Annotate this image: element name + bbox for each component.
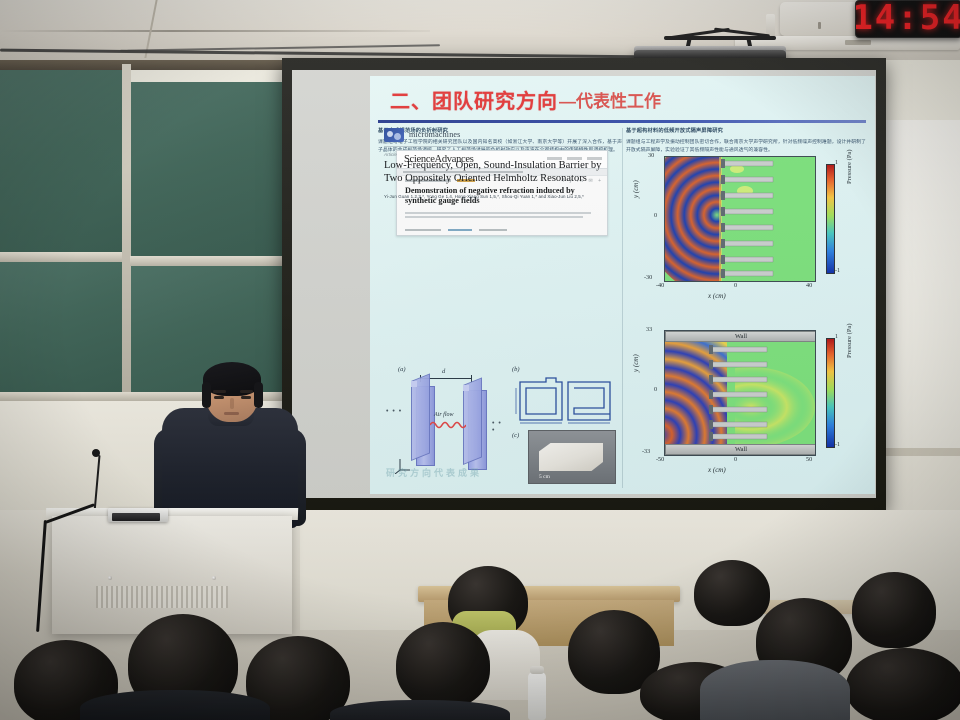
- audience-shoulders: [700, 660, 850, 720]
- presenter-brow: [213, 390, 226, 393]
- figure-panel-b: (b): [512, 368, 618, 428]
- sample-specimen: [539, 443, 603, 471]
- micromachines-article-title: Low-Frequency, Open, Sound-Insulation Ba…: [384, 159, 610, 185]
- resonator-schematic: [512, 376, 616, 426]
- colorbar-tick-min: -1: [835, 442, 840, 448]
- colorbar-tick-max: 1: [835, 334, 838, 340]
- presenter-nose: [230, 398, 234, 409]
- colorbar-label: Pressure (Pa): [846, 150, 853, 184]
- presenter-hair: [254, 382, 263, 408]
- x-tick-max: 40: [806, 282, 812, 289]
- audience-head: [694, 560, 770, 626]
- audience-shoulders: [80, 690, 270, 720]
- dimension-label: d: [442, 368, 445, 375]
- pressure-field-heatmap: [665, 157, 815, 281]
- x-tick-mid: 0: [734, 456, 737, 463]
- y-tick-max: 30: [648, 152, 654, 159]
- chart-sound-insulation-barrier: y (cm) 33 0 -33 -50 0 50 x (cm): [630, 324, 866, 484]
- wall-speaker-unit: [780, 2, 866, 36]
- presenter-eye: [241, 396, 251, 399]
- slide-left-column: 基于合成规范场的负折射研究 课题组与电子工程学院的相关研究团队以及国内知名高校（…: [378, 128, 622, 490]
- column-divider: [622, 128, 623, 488]
- water-bottle-cap: [530, 666, 544, 674]
- presenter-eye: [214, 396, 224, 399]
- figure-panel-a: (a) d Air flow • • • • • •: [388, 368, 508, 478]
- slide-watermark: 研究方向代表成果: [386, 466, 482, 479]
- podium-screw: [212, 576, 216, 580]
- title-underline: [378, 120, 866, 123]
- y-tick-min: -30: [644, 274, 652, 281]
- y-tick-mid: 0: [654, 386, 657, 393]
- micromachines-masthead: micromachines: [409, 130, 460, 139]
- micromachines-logo-icon: [384, 128, 404, 142]
- right-section-heading: 基于超构材料的低频开放式隔声屏障研究: [626, 128, 866, 136]
- micromachines-authors: Yi-Jun Guan 1,2,3,*, Yong Ge 1,4, Hong-X…: [384, 194, 610, 199]
- slide-right-column: 基于超构材料的低频开放式隔声屏障研究 课题组与工程声学及振动控制团队密切合作，联…: [626, 128, 866, 490]
- sound-wave-icon: [430, 420, 466, 430]
- colorbar: [826, 164, 835, 274]
- x-tick-min: -40: [656, 282, 664, 289]
- water-bottle: [528, 672, 546, 720]
- slide-title: 二、团队研究方向 —代表性工作: [390, 84, 860, 114]
- presentation-slide: 二、团队研究方向 —代表性工作 基于合成规范场的负折射研究 课题组与电子工程学院…: [370, 76, 875, 494]
- presenter-hair: [202, 382, 211, 408]
- presenter-brow: [240, 390, 253, 393]
- whiteboard-rail: [880, 448, 960, 456]
- podium-screw: [108, 576, 112, 580]
- audience-head: [846, 648, 960, 720]
- wall-annotation-top: Wall: [665, 331, 816, 342]
- audience-head: [396, 622, 490, 708]
- ellipsis-dots: • • •: [492, 420, 508, 434]
- slide-title-sub: —代表性工作: [559, 87, 661, 112]
- colorbar-tick-min: -1: [835, 268, 840, 274]
- wall-annotation-bottom: Wall: [665, 444, 816, 455]
- chalkboard-rail: [0, 252, 122, 262]
- presenter-mouth: [224, 412, 239, 415]
- y-tick-mid: 0: [654, 212, 657, 219]
- colorbar: [826, 338, 835, 448]
- chalkboard-panel: [130, 82, 300, 256]
- x-tick-mid: 0: [734, 282, 737, 289]
- clock-time: 14:54: [856, 0, 960, 37]
- whiteboard-panel: [880, 120, 960, 450]
- scale-bar-label: 5 cm: [539, 474, 550, 480]
- wall-clock: 14:54: [855, 0, 960, 38]
- x-axis-label: x (cm): [708, 292, 726, 300]
- laptop-screen[interactable]: [112, 513, 160, 521]
- panel-label-a: (a): [398, 366, 406, 373]
- pressure-field-heatmap: [665, 331, 815, 455]
- x-tick-min: -50: [656, 456, 664, 463]
- article-footer-links: [405, 229, 507, 232]
- panel-label-c: (c): [512, 432, 519, 439]
- audience-head: [852, 572, 936, 648]
- slide-title-main: 二、团队研究方向: [390, 85, 558, 114]
- figure-panel-c: (c) 5 cm: [528, 430, 614, 482]
- divider: [384, 146, 610, 147]
- resonator-bar-3d: [468, 390, 487, 470]
- y-tick-min: -33: [642, 448, 650, 455]
- plot-area: Wall Wall: [664, 330, 816, 456]
- chalkboard-panel: [0, 70, 122, 252]
- x-tick-max: 50: [806, 456, 812, 463]
- plot-area: [664, 156, 816, 282]
- y-axis-label: y (cm): [632, 354, 640, 372]
- y-axis-label: y (cm): [632, 180, 640, 198]
- chalkboard-frame: [122, 64, 131, 394]
- colorbar-tick-max: 1: [835, 160, 838, 166]
- ellipsis-dots: • • •: [386, 408, 402, 415]
- sample-photograph: 5 cm: [528, 430, 616, 484]
- chalkboard-panel: [0, 262, 122, 392]
- chart-negative-refraction: y (cm) 30 0 -30 -40 0 40 x (cm): [630, 150, 866, 310]
- audience-shoulders: [330, 700, 510, 720]
- ceiling-seam: [0, 30, 430, 32]
- y-tick-max: 33: [646, 326, 652, 333]
- lecture-hall-screenshot: 14:54 二、团队研究方向 —代表性工作 基于合成规范场的负折射研究 课题组与…: [0, 0, 960, 720]
- panel-label-b: (b): [512, 366, 520, 373]
- colorbar-label: Pressure (Pa): [846, 324, 853, 358]
- podium-vent: [96, 586, 228, 608]
- x-axis-label: x (cm): [708, 466, 726, 474]
- journal-article-body: Demonstration of negative refraction ind…: [405, 179, 599, 221]
- chalkboard-rail: [130, 256, 300, 266]
- article-abstract-lines: [405, 212, 599, 219]
- microphone-icon: [92, 449, 100, 457]
- article-type-label: Article: [384, 152, 397, 157]
- airflow-label: Air flow: [434, 412, 454, 418]
